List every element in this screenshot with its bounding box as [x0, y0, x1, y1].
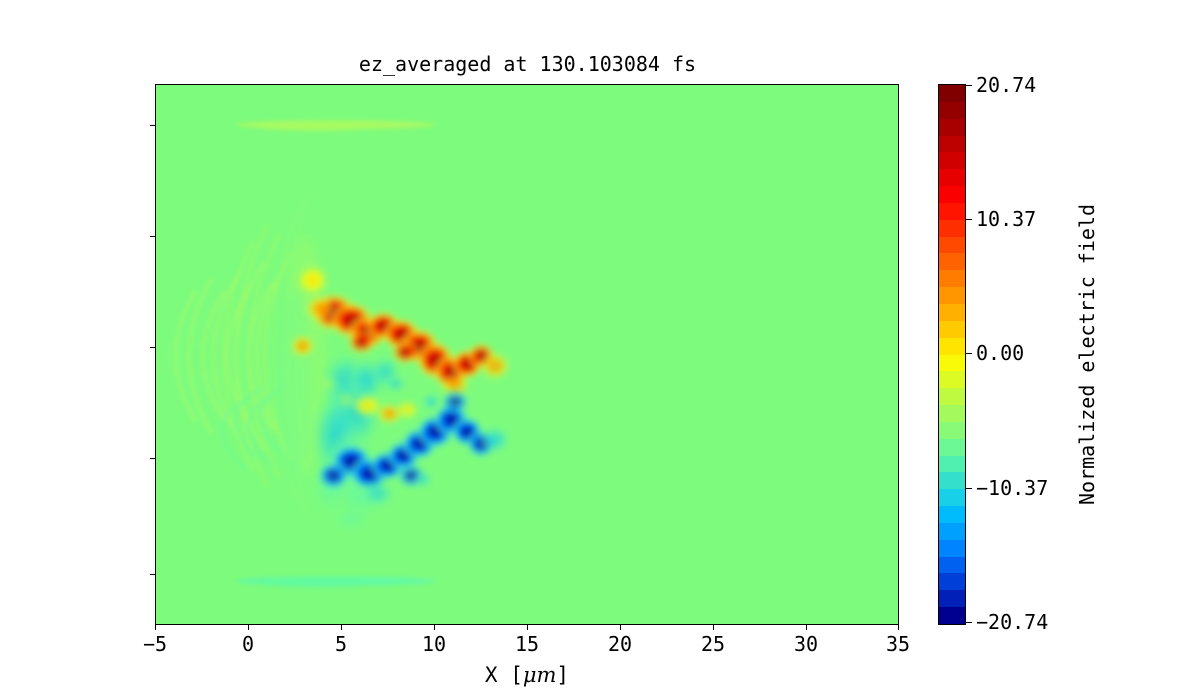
colorbar-band: [939, 220, 965, 237]
colorbar-tick-label: −10.37: [976, 476, 1048, 500]
colorbar-band: [939, 573, 965, 590]
xtick-mark: [248, 625, 249, 630]
colorbar-tick-label: 0.00: [976, 341, 1024, 365]
colorbar-band: [939, 287, 965, 304]
xtick-mark: [341, 625, 342, 630]
xtick-label: 25: [701, 632, 725, 656]
heatmap-axes: [155, 84, 899, 625]
colorbar-band: [939, 102, 965, 119]
colorbar-tick-mark: [966, 219, 972, 220]
colorbar-band: [939, 338, 965, 355]
colorbar-band: [939, 85, 965, 102]
xtick-mark: [713, 625, 714, 630]
colorbar-band: [939, 557, 965, 574]
xtick-label: 35: [886, 632, 910, 656]
colorbar-band: [939, 489, 965, 506]
colorbar-band: [939, 439, 965, 456]
colorbar-band: [939, 119, 965, 136]
xtick-mark: [434, 625, 435, 630]
colorbar-band: [939, 371, 965, 388]
colorbar-band: [939, 253, 965, 270]
xtick-mark: [527, 625, 528, 630]
xtick-label: −5: [143, 632, 167, 656]
colorbar-band: [939, 152, 965, 169]
colorbar-tick-label: 20.74: [976, 73, 1036, 97]
colorbar-band: [939, 506, 965, 523]
colorbar-band: [939, 523, 965, 540]
xtick-mark: [806, 625, 807, 630]
xtick-mark: [898, 625, 899, 630]
ytick-mark: [150, 574, 155, 575]
x-axis-unit: μm: [523, 663, 557, 687]
ytick-mark: [150, 458, 155, 459]
colorbar-band: [939, 355, 965, 372]
colorbar-band: [939, 136, 965, 153]
colorbar-band: [939, 304, 965, 321]
colorbar-band: [939, 590, 965, 607]
colorbar-band: [939, 607, 965, 624]
xtick-label: 15: [515, 632, 539, 656]
colorbar-band: [939, 321, 965, 338]
page-title: ez_averaged at 130.103084 fs: [155, 52, 900, 76]
matplotlib-figure: ez_averaged at 130.103084 fs: [0, 0, 1200, 700]
colorbar-tick-mark: [966, 622, 972, 623]
x-axis-label: X [μm]: [155, 663, 899, 687]
ytick-mark: [150, 125, 155, 126]
colorbar-band: [939, 203, 965, 220]
xtick-mark: [155, 625, 156, 630]
x-axis-label-text: X [: [485, 663, 523, 687]
colorbar-tick-label: 10.37: [976, 207, 1036, 231]
colorbar-band: [939, 405, 965, 422]
colorbar-band: [939, 169, 965, 186]
ytick-mark: [150, 236, 155, 237]
colorbar-band: [939, 237, 965, 254]
colorbar-band: [939, 456, 965, 473]
colorbar-tick-mark: [966, 353, 972, 354]
xtick-mark: [620, 625, 621, 630]
colorbar-band: [939, 186, 965, 203]
colorbar-tick-label: −20.74: [976, 610, 1048, 634]
colorbar: [938, 84, 966, 625]
colorbar-band: [939, 540, 965, 557]
colorbar-band: [939, 388, 965, 405]
xtick-label: 10: [422, 632, 446, 656]
colorbar-band: [939, 422, 965, 439]
heatmap-image: [156, 85, 898, 624]
xtick-label: 5: [335, 632, 347, 656]
colorbar-tick-mark: [966, 85, 972, 86]
colorbar-band: [939, 472, 965, 489]
xtick-label: 20: [608, 632, 632, 656]
xtick-label: 30: [794, 632, 818, 656]
xtick-label: 0: [242, 632, 254, 656]
colorbar-band: [939, 270, 965, 287]
colorbar-axis-label: Normalized electric field: [1075, 84, 1099, 625]
ytick-mark: [150, 347, 155, 348]
colorbar-tick-mark: [966, 488, 972, 489]
